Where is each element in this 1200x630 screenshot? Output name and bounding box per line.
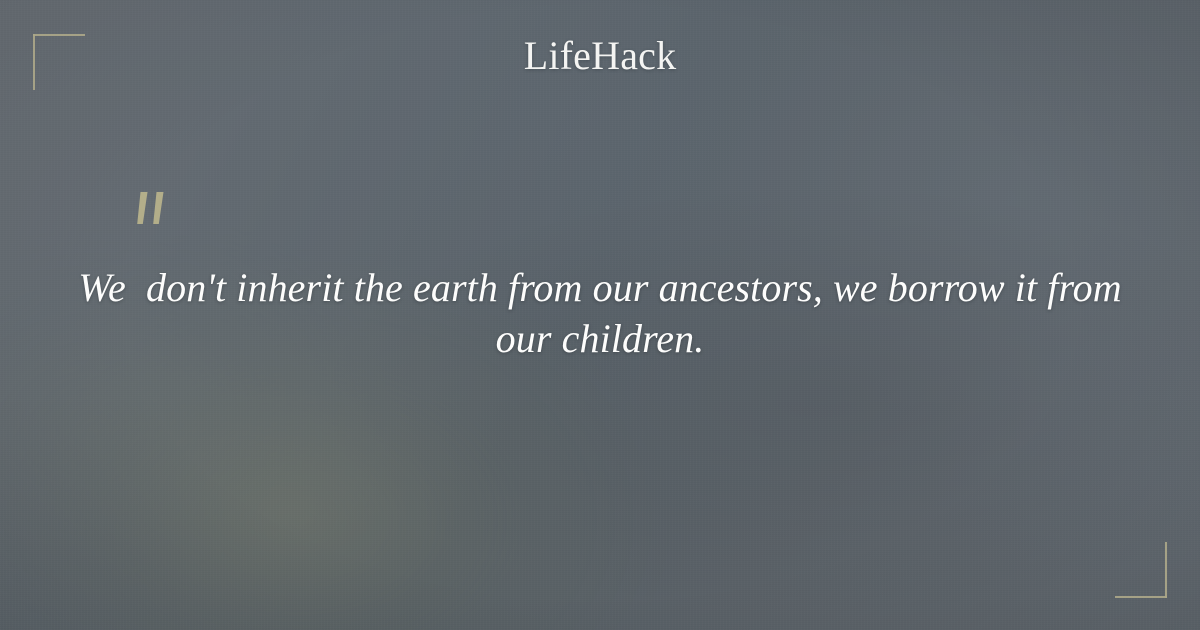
double-quote-icon <box>128 188 180 244</box>
quote-text: We don't inherit the earth from our ance… <box>60 262 1140 364</box>
quote-block: We don't inherit the earth from our ance… <box>60 262 1140 364</box>
corner-bracket-bottom-right-icon <box>1115 542 1167 598</box>
quote-card: LifeHack We don't inherit the earth from… <box>0 0 1200 630</box>
brand-logo: LifeHack <box>0 36 1200 76</box>
